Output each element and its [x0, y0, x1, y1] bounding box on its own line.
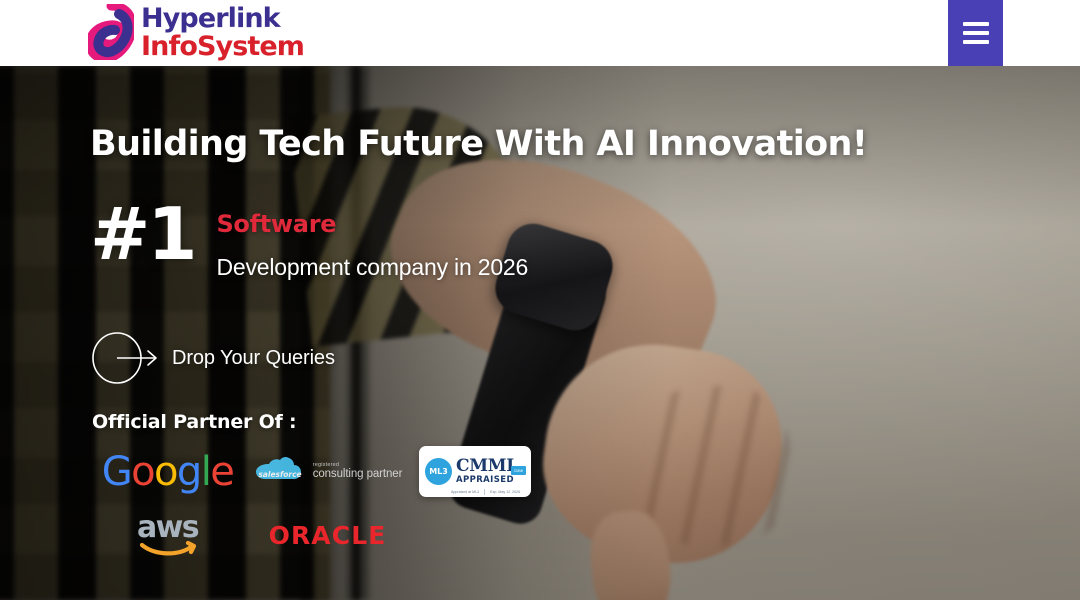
site-logo[interactable]: Hyperlink InfoSystem: [88, 4, 304, 60]
salesforce-cloud-icon: salesforce: [253, 455, 307, 489]
google-letter-o1: o: [131, 449, 154, 495]
cmmi-text-block: CMMI APPRAISED: [456, 458, 514, 485]
hamburger-menu-button[interactable]: [948, 0, 1003, 66]
cmmi-badge: ML3 CMMI APPRAISED Appraised at ML3 Exp.…: [419, 446, 531, 497]
rank-number: #1: [90, 204, 194, 266]
cmmi-footer-left: Appraised at ML3: [451, 490, 479, 494]
aws-wordmark: aws: [137, 516, 199, 556]
logo-wordmark: Hyperlink InfoSystem: [141, 5, 304, 60]
hero-rank-block: #1 Software Development company in 2026: [90, 204, 528, 281]
partner-logo-aws[interactable]: aws: [90, 516, 245, 556]
cta-label: Drop Your Queries: [172, 347, 335, 370]
aws-text: aws: [137, 516, 198, 541]
google-letter-l: l: [201, 449, 211, 495]
cmmi-footer: Appraised at ML3 Exp. May 12, 2026: [451, 489, 520, 495]
cmmi-footer-right: Exp. May 12, 2026: [490, 490, 520, 494]
cmmi-level-circle: ML3: [425, 458, 452, 485]
salesforce-lockup: salesforce registered consulting partner: [253, 455, 403, 489]
hero-section: Building Tech Future With AI Innovation!…: [0, 66, 1080, 600]
aws-smile-icon: [140, 540, 196, 556]
rank-text-block: Software Development company in 2026: [216, 204, 528, 281]
hyperlink-logo-icon: [88, 4, 134, 60]
logo-line-infosystem: InfoSystem: [141, 33, 304, 60]
page-root: Hyperlink InfoSystem Building Te: [0, 0, 1080, 600]
cmmi-footer-divider: [484, 489, 485, 495]
salesforce-partner-text: registered consulting partner: [313, 463, 403, 481]
partner-logo-google[interactable]: Google: [90, 452, 245, 492]
circle-arrow-right-icon: [90, 332, 162, 384]
hero-headline: Building Tech Future With AI Innovation!: [90, 124, 867, 164]
rank-highlight: Software: [216, 211, 528, 237]
google-letter-e: e: [210, 449, 233, 495]
logo-line-hyperlink: Hyperlink: [141, 5, 304, 32]
rank-subtitle: Development company in 2026: [216, 254, 528, 281]
partner-logo-cmmi[interactable]: ML3 CMMI APPRAISED Appraised at ML3 Exp.…: [410, 446, 540, 497]
partners-title: Official Partner Of :: [92, 411, 296, 433]
hamburger-bar: [963, 31, 989, 35]
cmmi-subtitle: APPRAISED: [456, 476, 514, 485]
partner-logos-row-1: Google salesforce registered consulting …: [90, 446, 540, 497]
google-letter-o2: o: [154, 449, 177, 495]
partner-logo-oracle[interactable]: ORACLE: [245, 523, 410, 548]
site-header: Hyperlink InfoSystem: [0, 0, 1080, 66]
google-wordmark: Google: [102, 452, 233, 492]
google-letter-g2: g: [177, 449, 201, 495]
hamburger-bar: [963, 22, 989, 26]
google-letter-g1: G: [102, 449, 131, 495]
partner-logo-salesforce[interactable]: salesforce registered consulting partner: [245, 455, 410, 489]
salesforce-consulting-partner-label: consulting partner: [313, 468, 403, 480]
oracle-wordmark: ORACLE: [269, 523, 387, 548]
cmmi-institute-chip: CMMI: [511, 466, 526, 475]
svg-text:salesforce: salesforce: [258, 470, 301, 479]
drop-your-queries-button[interactable]: Drop Your Queries: [90, 332, 335, 384]
cmmi-chip-label: CMMI: [514, 469, 524, 473]
hamburger-bar: [963, 40, 989, 44]
partner-logos-row-2: aws ORACLE: [90, 516, 410, 556]
cmmi-title: CMMI: [456, 458, 514, 475]
